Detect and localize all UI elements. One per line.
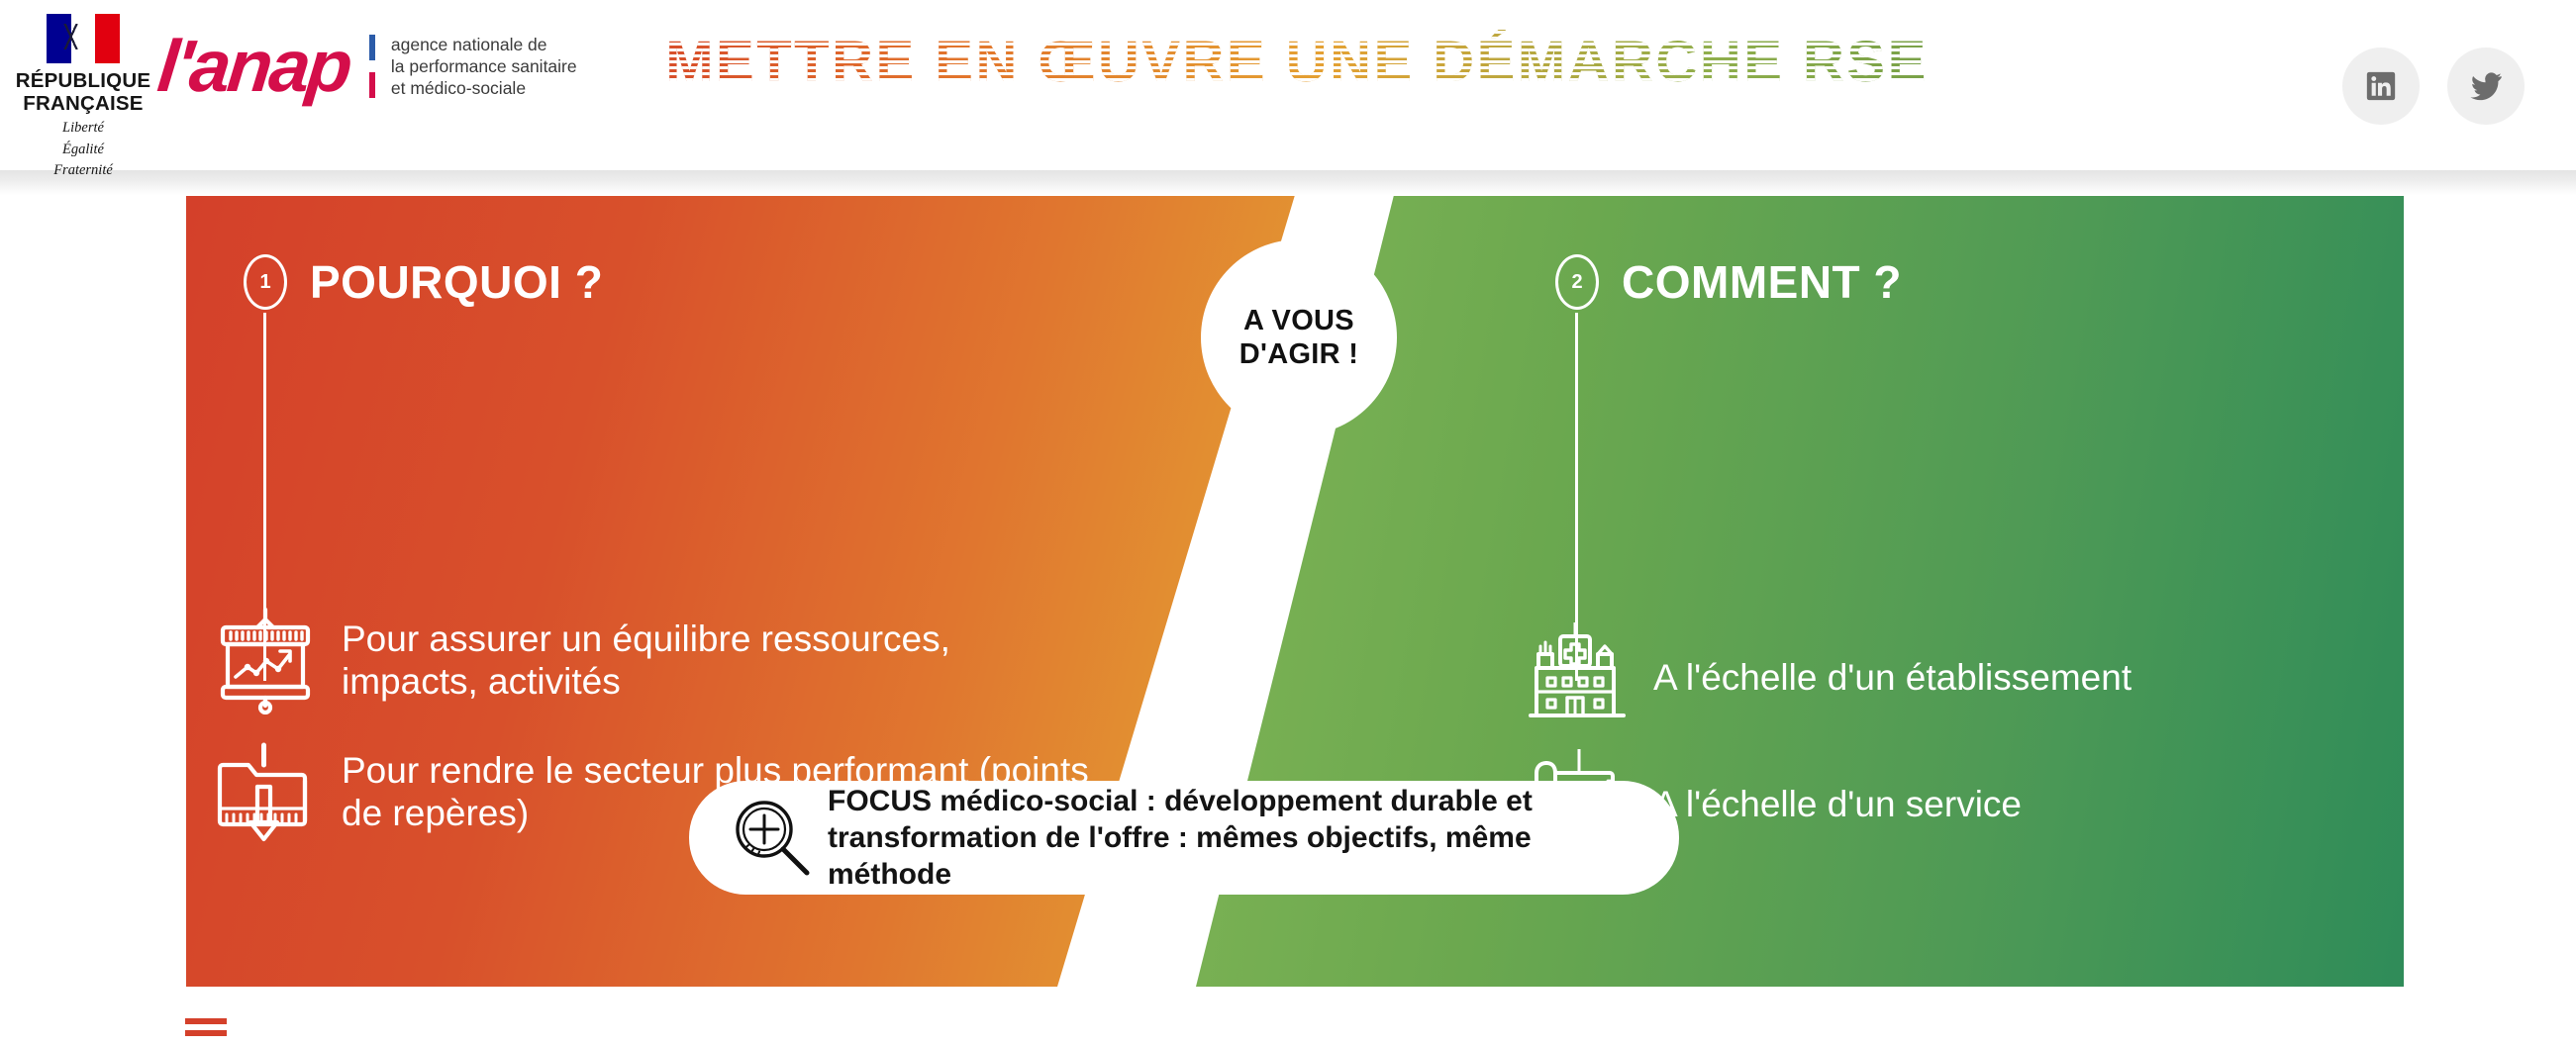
focus-line-2: transformation de l'offre : mêmes object… xyxy=(828,819,1639,893)
focus-text: FOCUS médico-social : développement dura… xyxy=(828,783,1639,893)
pourquoi-heading: 1 POURQUOI ? xyxy=(244,254,603,310)
a-vous-dagir-text: A VOUS D'AGIR ! xyxy=(1239,304,1358,371)
pourquoi-item-1: Pour assurer un équilibre ressources, im… xyxy=(211,606,1092,714)
step-badge-2: 2 xyxy=(1555,254,1599,310)
anap-bars-icon xyxy=(369,35,375,98)
rse-banner: A VOUS D'AGIR ! 1 POURQUOI ? xyxy=(186,195,2404,987)
step-badge-1: 1 xyxy=(244,254,287,310)
a-vous-dagir-badge: A VOUS D'AGIR ! xyxy=(1201,239,1397,435)
divider-bar-1 xyxy=(185,1018,227,1024)
anap-tagline-line-1: agence nationale de xyxy=(391,34,577,55)
pourquoi-item-1-label: Pour assurer un équilibre ressources, im… xyxy=(342,618,1092,703)
magnifier-plus-icon xyxy=(729,796,814,881)
site-header: RÉPUBLIQUE FRANÇAISE Liberté Égalité Fra… xyxy=(0,0,2576,170)
comment-item-1: A l'échelle d'un établissement xyxy=(1523,622,2374,731)
header-shadow xyxy=(0,170,2576,196)
focus-card[interactable]: FOCUS médico-social : développement dura… xyxy=(689,781,1679,895)
comment-item-2-label: A l'échelle d'un service xyxy=(1653,783,2022,825)
section-divider xyxy=(185,1018,227,1042)
focus-line-1: FOCUS médico-social : développement dura… xyxy=(828,783,1639,819)
anap-wordmark: l'anap xyxy=(154,30,353,103)
hospital-icon xyxy=(1523,622,1632,731)
divider-bar-2 xyxy=(185,1030,227,1036)
anap-logo[interactable]: l'anap agence nationale de la performanc… xyxy=(158,30,577,103)
devise-fraternite: Fraternité xyxy=(14,162,152,179)
comment-item-1-label: A l'échelle d'un établissement xyxy=(1653,656,2131,699)
a-vous-dagir-line-1: A VOUS xyxy=(1239,304,1358,337)
anap-tagline-line-2: la performance sanitaire xyxy=(391,55,577,77)
social-links xyxy=(2342,48,2525,125)
anap-tagline: agence nationale de la performance sanit… xyxy=(391,34,577,99)
twitter-icon xyxy=(2469,69,2503,103)
a-vous-dagir-line-2: D'AGIR ! xyxy=(1239,337,1358,371)
devise-liberte: Liberté xyxy=(14,120,152,137)
comment-title: COMMENT ? xyxy=(1622,254,1902,310)
linkedin-icon xyxy=(2364,69,2398,103)
comment-heading: 2 COMMENT ? xyxy=(1555,254,1902,310)
anap-tagline-line-3: et médico-sociale xyxy=(391,77,577,99)
devise-egalite: Égalité xyxy=(14,142,152,158)
rf-line-2: FRANÇAISE xyxy=(14,92,152,115)
pourquoi-title: POURQUOI ? xyxy=(310,254,603,310)
page-title: METTRE EN ŒUVRE UNE DÉMARCHE RSE xyxy=(554,22,2039,103)
republique-francaise-logo: RÉPUBLIQUE FRANÇAISE Liberté Égalité Fra… xyxy=(14,14,152,179)
rf-line-1: RÉPUBLIQUE xyxy=(14,69,152,92)
twitter-button[interactable] xyxy=(2447,48,2525,125)
linkedin-button[interactable] xyxy=(2342,48,2420,125)
folder-download-icon xyxy=(211,737,320,846)
french-flag-icon xyxy=(47,14,120,63)
presentation-chart-icon xyxy=(211,606,320,714)
